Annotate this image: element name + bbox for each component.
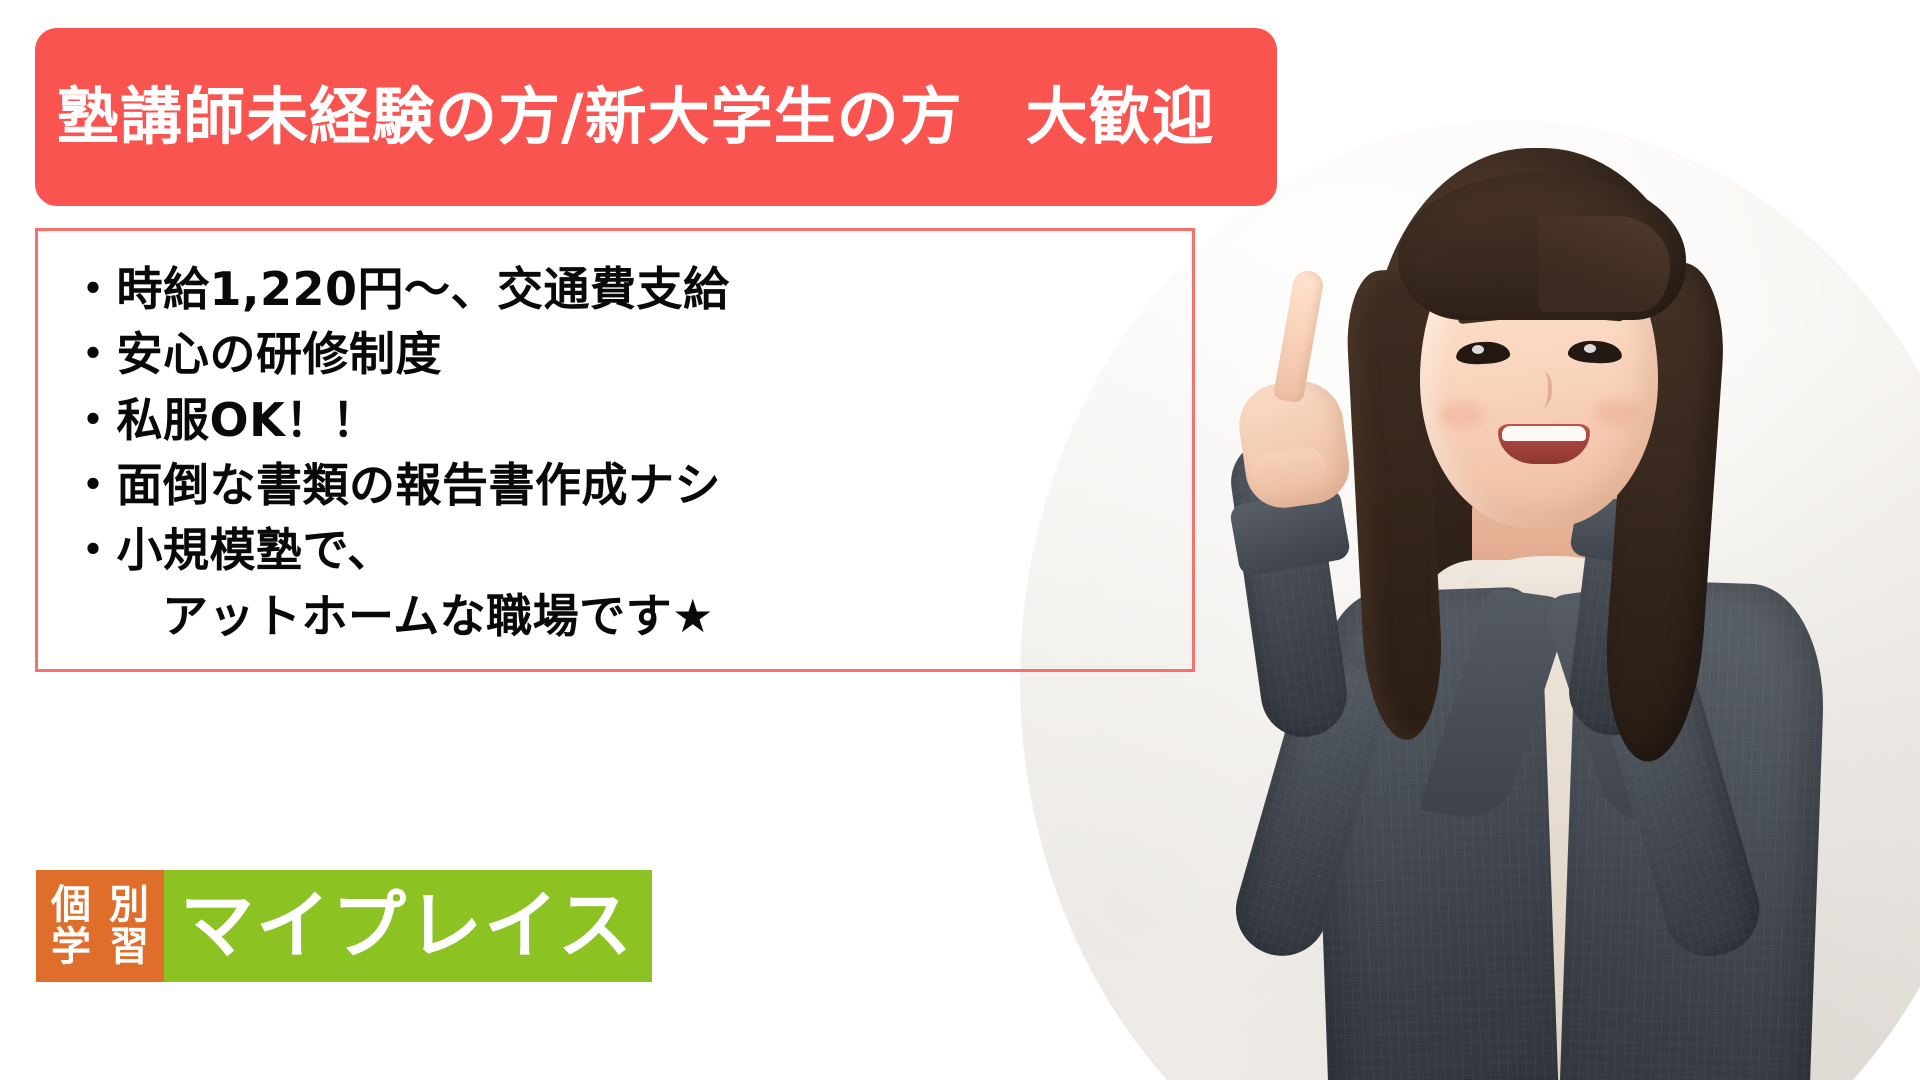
headline-banner: 塾講師未経験の方/新大学生の方 大歓迎: [35, 28, 1277, 206]
list-item: アットホームな職場です★: [70, 584, 1192, 649]
logo-brand-name-text: マイプレイス: [180, 889, 634, 963]
teeth: [1502, 426, 1586, 441]
logo-brand-name-block: マイプレイス: [164, 870, 652, 982]
list-item: ・安心の研修制度: [70, 322, 1192, 387]
cheek-left: [1438, 402, 1484, 428]
logo-badge-char: 学: [42, 926, 100, 968]
list-item: ・小規模塾で、: [70, 518, 1192, 583]
logo-badge-char: 習: [100, 926, 158, 968]
nose: [1532, 372, 1552, 408]
recruitment-poster: 塾講師未経験の方/新大学生の方 大歓迎 ・時給1,220円〜、交通費支給 ・安心…: [0, 0, 1920, 1080]
benefits-list: ・時給1,220円〜、交通費支給 ・安心の研修制度 ・私服OK！！ ・面倒な書類…: [70, 257, 1192, 649]
logo-badge-kobetsu-gakushu: 個 別 学 習: [36, 870, 164, 982]
logo-badge-char: 別: [100, 884, 158, 926]
list-item: ・面倒な書類の報告書作成ナシ: [70, 453, 1192, 518]
list-item: ・私服OK！！: [70, 388, 1192, 453]
eye-highlight-right: [1584, 344, 1596, 353]
list-item: ・時給1,220円〜、交通費支給: [70, 257, 1192, 322]
logo-badge-char: 個: [42, 884, 100, 926]
brand-logo: 個 別 学 習 マイプレイス: [36, 870, 652, 982]
eye-highlight-left: [1472, 345, 1484, 354]
benefits-box: ・時給1,220円〜、交通費支給 ・安心の研修制度 ・私服OK！！ ・面倒な書類…: [35, 228, 1195, 672]
headline-text: 塾講師未経験の方/新大学生の方 大歓迎: [35, 86, 1215, 148]
cheek-right: [1594, 400, 1640, 426]
